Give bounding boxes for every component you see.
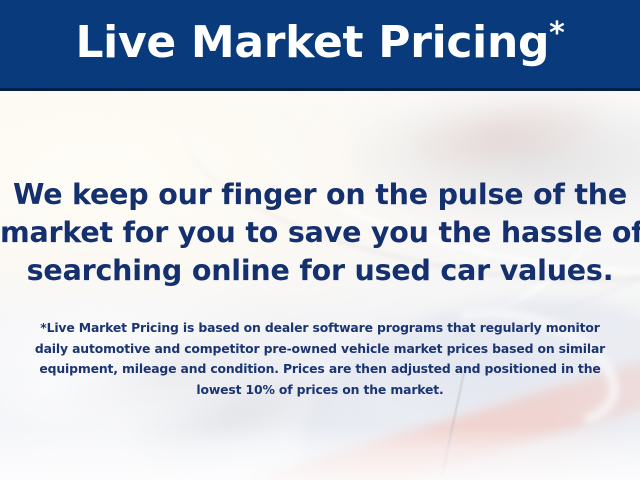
page-title-text: Live Market Pricing <box>75 17 549 68</box>
disclaimer-line-4: lowest 10% of prices on the market. <box>0 380 640 401</box>
page-title: Live Market Pricing* <box>75 21 564 65</box>
disclaimer-line-1: *Live Market Pricing is based on dealer … <box>0 318 640 339</box>
disclaimer-line-2: daily automotive and competitor pre-owne… <box>0 339 640 360</box>
live-market-pricing-banner: Live Market Pricing* We keep our finger … <box>0 0 640 480</box>
headline-line-2: market for you to save you the hassle of <box>0 214 640 252</box>
page-title-footnote-marker: * <box>549 16 564 51</box>
disclaimer-line-3: equipment, mileage and condition. Prices… <box>0 359 640 380</box>
headline: We keep our finger on the pulse of the m… <box>0 176 640 290</box>
headline-line-3: searching online for used car values. <box>0 252 640 290</box>
headline-line-1: We keep our finger on the pulse of the <box>0 176 640 214</box>
header-bar: Live Market Pricing* <box>0 0 640 91</box>
disclaimer: *Live Market Pricing is based on dealer … <box>0 318 640 400</box>
